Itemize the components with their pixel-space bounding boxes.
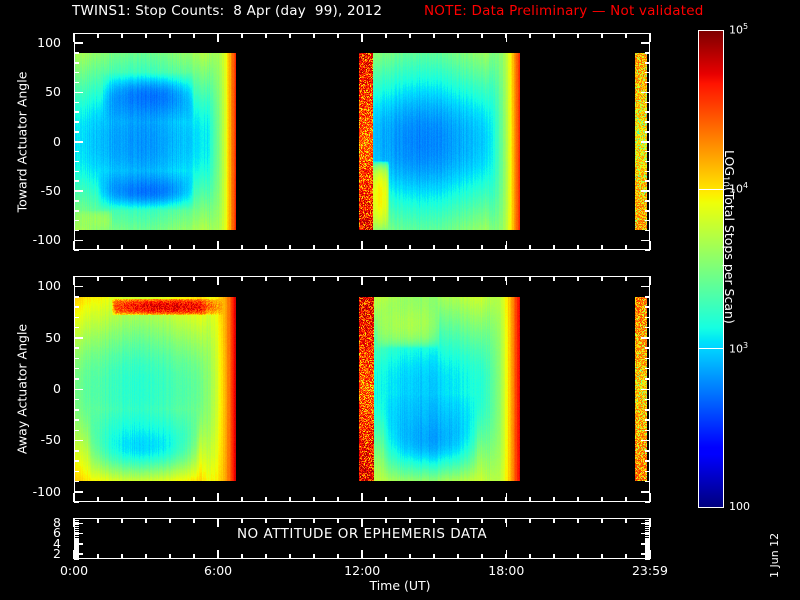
toward-x-minor-tick: [577, 33, 579, 38]
attitude-y-minor-tick: [645, 540, 650, 542]
toward-x-minor-tick: [241, 33, 243, 38]
attitude-y-minor-tick: [74, 550, 79, 552]
away-y-major-tick: [74, 337, 83, 339]
attitude-x-minor-tick: [625, 554, 627, 559]
away-x-minor-tick: [313, 497, 315, 502]
away-y-minor-tick: [74, 276, 79, 278]
attitude-x-minor-tick: [313, 518, 315, 523]
toward-y-major-tick: [641, 190, 650, 192]
attitude-x-minor-tick: [601, 518, 603, 523]
away-x-minor-tick: [97, 497, 99, 502]
attitude-x-minor-tick: [313, 554, 315, 559]
attitude-x-minor-tick: [145, 518, 147, 523]
away-x-minor-tick: [601, 497, 603, 502]
away-x-minor-tick: [457, 497, 459, 502]
attitude-x-minor-tick: [241, 518, 243, 523]
toward-y-minor-tick: [645, 200, 650, 202]
toward-x-minor-tick: [169, 245, 171, 250]
away-x-major-tick: [506, 493, 508, 502]
away-x-minor-tick: [121, 497, 123, 502]
plot-page: TWINS1: Stop Counts: 8 Apr (day 99), 201…: [0, 0, 800, 600]
toward-y-minor-tick: [645, 220, 650, 222]
toward-x-minor-tick: [97, 33, 99, 38]
away-x-minor-tick: [577, 497, 579, 502]
away-x-minor-tick: [265, 497, 267, 502]
colorbar-tick: [698, 348, 724, 350]
toward-y-minor-tick: [74, 200, 79, 202]
away-x-minor-tick: [385, 276, 387, 281]
toward-x-major-tick: [217, 241, 219, 250]
away-y-minor-tick: [645, 296, 650, 298]
away-x-minor-tick: [409, 497, 411, 502]
toward-y-minor-tick: [74, 230, 79, 232]
toward-y-minor-tick: [74, 72, 79, 74]
away-x-minor-tick: [337, 497, 339, 502]
attitude-y-minor-tick: [74, 536, 79, 538]
away-y-minor-tick: [74, 409, 79, 411]
away-y-minor-tick: [645, 378, 650, 380]
toward-y-minor-tick: [645, 72, 650, 74]
away-x-minor-tick: [433, 276, 435, 281]
away-y-minor-tick: [645, 368, 650, 370]
away-y-minor-tick: [645, 460, 650, 462]
toward-y-major-tick: [74, 141, 83, 143]
attitude-y-tick-label: 2: [0, 546, 61, 561]
toward-y-tick-label: -100: [0, 232, 61, 247]
away-x-major-tick: [73, 493, 75, 502]
attitude-x-major-tick: [506, 550, 508, 559]
toward-x-minor-tick: [337, 33, 339, 38]
away-x-minor-tick: [193, 276, 195, 281]
attitude-y-minor-tick: [74, 540, 79, 542]
toward-y-major-tick: [74, 42, 83, 44]
away-y-minor-tick: [74, 471, 79, 473]
colorbar-tick: [698, 189, 724, 191]
away-y-tick-label: -50: [0, 432, 61, 447]
toward-x-major-tick: [361, 33, 363, 42]
toward-y-minor-tick: [645, 62, 650, 64]
away-x-minor-tick: [481, 276, 483, 281]
attitude-y-minor-tick: [645, 528, 650, 530]
away-x-major-tick: [361, 493, 363, 502]
attitude-x-minor-tick: [529, 518, 531, 523]
attitude-x-minor-tick: [265, 518, 267, 523]
attitude-y-major-tick: [74, 523, 83, 525]
attitude-x-minor-tick: [121, 554, 123, 559]
toward-x-minor-tick: [265, 245, 267, 250]
away-y-tick-label: -100: [0, 484, 61, 499]
toward-y-minor-tick: [645, 180, 650, 182]
attitude-x-minor-tick: [457, 554, 459, 559]
toward-y-minor-tick: [74, 220, 79, 222]
toward-x-minor-tick: [385, 33, 387, 38]
away-y-minor-tick: [74, 358, 79, 360]
attitude-y-minor-tick: [74, 528, 79, 530]
away-x-minor-tick: [169, 497, 171, 502]
toward-x-minor-tick: [601, 33, 603, 38]
attitude-y-minor-tick: [74, 530, 79, 532]
toward-x-major-tick: [73, 241, 75, 250]
colorbar: [698, 30, 724, 508]
toward-y-minor-tick: [645, 131, 650, 133]
toward-y-minor-tick: [74, 33, 79, 35]
toward-x-major-tick: [361, 241, 363, 250]
toward-x-minor-tick: [289, 245, 291, 250]
away-x-minor-tick: [313, 276, 315, 281]
away-y-tick-label: 50: [0, 330, 61, 345]
away-x-minor-tick: [625, 497, 627, 502]
away-y-minor-tick: [645, 450, 650, 452]
away-x-minor-tick: [625, 276, 627, 281]
x-tick-label: 18:00: [466, 563, 546, 578]
attitude-y-major-tick: [74, 533, 83, 535]
away-y-minor-tick: [74, 317, 79, 319]
colorbar-gradient: [699, 31, 723, 507]
away-y-minor-tick: [645, 430, 650, 432]
attitude-x-minor-tick: [481, 554, 483, 559]
toward-y-minor-tick: [74, 82, 79, 84]
toward-x-major-tick: [506, 241, 508, 250]
attitude-y-minor-tick: [74, 518, 79, 520]
attitude-x-minor-tick: [337, 554, 339, 559]
toward-x-minor-tick: [625, 245, 627, 250]
attitude-y-minor-tick: [74, 538, 79, 540]
attitude-x-minor-tick: [169, 518, 171, 523]
toward-x-minor-tick: [313, 33, 315, 38]
attitude-x-minor-tick: [577, 518, 579, 523]
toward-y-major-tick: [74, 240, 83, 242]
away-x-minor-tick: [433, 497, 435, 502]
away-y-minor-tick: [645, 317, 650, 319]
away-x-minor-tick: [553, 276, 555, 281]
attitude-x-major-tick: [506, 518, 508, 527]
toward-x-minor-tick: [529, 245, 531, 250]
no-attitude-message: NO ATTITUDE OR EPHEMERIS DATA: [74, 526, 650, 542]
colorbar-tick-label: 105: [729, 22, 748, 37]
attitude-y-minor-tick: [645, 538, 650, 540]
attitude-x-major-tick: [73, 550, 75, 559]
away-x-minor-tick: [169, 276, 171, 281]
away-y-minor-tick: [74, 502, 79, 504]
away-y-minor-tick: [74, 378, 79, 380]
toward-x-minor-tick: [97, 245, 99, 250]
away-y-major-tick: [74, 389, 83, 391]
x-tick-label: 12:00: [322, 563, 402, 578]
away-x-minor-tick: [97, 276, 99, 281]
toward-x-minor-tick: [577, 245, 579, 250]
toward-y-minor-tick: [645, 210, 650, 212]
attitude-x-minor-tick: [241, 554, 243, 559]
toward-x-minor-tick: [481, 245, 483, 250]
away-x-minor-tick: [553, 497, 555, 502]
away-y-minor-tick: [74, 399, 79, 401]
attitude-x-minor-tick: [625, 518, 627, 523]
toward-y-minor-tick: [74, 52, 79, 54]
away-y-minor-tick: [645, 358, 650, 360]
toward-y-minor-tick: [645, 52, 650, 54]
toward-y-minor-tick: [74, 131, 79, 133]
away-y-major-tick: [74, 491, 83, 493]
away-x-minor-tick: [577, 276, 579, 281]
colorbar-tick-label: 103: [729, 341, 748, 356]
toward-x-major-tick: [649, 241, 651, 250]
attitude-x-minor-tick: [553, 554, 555, 559]
x-tick-label: 6:00: [178, 563, 258, 578]
attitude-x-minor-tick: [265, 554, 267, 559]
attitude-x-minor-tick: [121, 518, 123, 523]
away-y-minor-tick: [74, 327, 79, 329]
toward-x-major-tick: [649, 33, 651, 42]
away-x-minor-tick: [145, 497, 147, 502]
away-x-minor-tick: [529, 497, 531, 502]
away-y-minor-tick: [645, 419, 650, 421]
toward-x-major-tick: [506, 33, 508, 42]
attitude-x-minor-tick: [145, 554, 147, 559]
toward-x-major-tick: [73, 33, 75, 42]
away-y-minor-tick: [74, 460, 79, 462]
toward-y-minor-tick: [74, 102, 79, 104]
away-y-minor-tick: [645, 409, 650, 411]
panel-away-frame: [74, 276, 650, 502]
toward-y-minor-tick: [645, 230, 650, 232]
toward-y-minor-tick: [74, 62, 79, 64]
away-y-minor-tick: [645, 327, 650, 329]
toward-y-tick-label: -50: [0, 183, 61, 198]
attitude-x-major-tick: [361, 518, 363, 527]
away-x-minor-tick: [193, 497, 195, 502]
away-y-minor-tick: [74, 306, 79, 308]
away-y-minor-tick: [645, 471, 650, 473]
attitude-x-major-tick: [649, 518, 651, 527]
away-y-major-tick: [641, 440, 650, 442]
attitude-x-minor-tick: [433, 554, 435, 559]
toward-x-minor-tick: [193, 245, 195, 250]
away-x-major-tick: [506, 276, 508, 285]
attitude-x-minor-tick: [97, 554, 99, 559]
away-y-major-tick: [641, 389, 650, 391]
attitude-x-minor-tick: [409, 554, 411, 559]
toward-x-minor-tick: [433, 245, 435, 250]
away-x-major-tick: [649, 276, 651, 285]
away-y-minor-tick: [645, 306, 650, 308]
away-x-minor-tick: [481, 497, 483, 502]
away-x-major-tick: [73, 276, 75, 285]
toward-y-minor-tick: [645, 151, 650, 153]
attitude-y-major-tick: [74, 543, 83, 545]
toward-x-minor-tick: [553, 33, 555, 38]
colorbar-tick-label: 100: [729, 500, 750, 513]
toward-x-minor-tick: [385, 245, 387, 250]
attitude-x-minor-tick: [193, 554, 195, 559]
away-x-minor-tick: [241, 497, 243, 502]
away-y-minor-tick: [74, 368, 79, 370]
attitude-x-minor-tick: [577, 554, 579, 559]
x-tick-label: 0:00: [34, 563, 114, 578]
attitude-y-minor-tick: [645, 546, 650, 548]
toward-y-major-tick: [641, 42, 650, 44]
attitude-x-minor-tick: [409, 518, 411, 523]
attitude-x-minor-tick: [481, 518, 483, 523]
attitude-x-minor-tick: [457, 518, 459, 523]
toward-y-tick-label: 50: [0, 84, 61, 99]
toward-y-major-tick: [74, 92, 83, 94]
toward-y-tick-label: 100: [0, 35, 61, 50]
toward-y-minor-tick: [74, 111, 79, 113]
toward-x-minor-tick: [481, 33, 483, 38]
away-x-minor-tick: [289, 497, 291, 502]
toward-x-minor-tick: [241, 245, 243, 250]
away-y-minor-tick: [74, 481, 79, 483]
toward-x-minor-tick: [145, 245, 147, 250]
toward-y-tick-label: 0: [0, 134, 61, 149]
away-y-major-tick: [641, 337, 650, 339]
attitude-x-minor-tick: [193, 518, 195, 523]
away-x-minor-tick: [337, 276, 339, 281]
attitude-y-minor-tick: [74, 548, 79, 550]
attitude-x-minor-tick: [553, 518, 555, 523]
toward-x-minor-tick: [121, 245, 123, 250]
toward-y-minor-tick: [74, 250, 79, 252]
attitude-y-major-tick: [74, 553, 83, 555]
toward-y-minor-tick: [645, 161, 650, 163]
toward-x-minor-tick: [601, 245, 603, 250]
attitude-y-minor-tick: [74, 526, 79, 528]
attitude-y-minor-tick: [74, 556, 79, 558]
attitude-x-minor-tick: [337, 518, 339, 523]
toward-x-minor-tick: [337, 245, 339, 250]
away-x-major-tick: [217, 276, 219, 285]
away-y-tick-label: 100: [0, 278, 61, 293]
away-y-major-tick: [74, 440, 83, 442]
away-x-minor-tick: [529, 276, 531, 281]
away-y-minor-tick: [74, 450, 79, 452]
toward-y-minor-tick: [74, 161, 79, 163]
toward-y-minor-tick: [74, 171, 79, 173]
toward-x-minor-tick: [553, 245, 555, 250]
preliminary-data-warning: NOTE: Data Preliminary — Not validated: [424, 3, 704, 19]
toward-x-minor-tick: [457, 33, 459, 38]
toward-y-minor-tick: [74, 151, 79, 153]
attitude-y-minor-tick: [645, 530, 650, 532]
toward-x-minor-tick: [289, 33, 291, 38]
away-y-minor-tick: [645, 347, 650, 349]
toward-y-major-tick: [641, 92, 650, 94]
attitude-x-major-tick: [73, 518, 75, 527]
attitude-x-minor-tick: [385, 554, 387, 559]
attitude-x-major-tick: [649, 550, 651, 559]
attitude-x-minor-tick: [97, 518, 99, 523]
toward-y-minor-tick: [645, 121, 650, 123]
away-x-minor-tick: [409, 276, 411, 281]
toward-y-minor-tick: [645, 82, 650, 84]
attitude-y-minor-tick: [74, 546, 79, 548]
away-y-major-tick: [641, 286, 650, 288]
toward-x-minor-tick: [409, 33, 411, 38]
colorbar-label: LOG10(Total Stops per Scan): [722, 150, 737, 324]
attitude-x-minor-tick: [433, 518, 435, 523]
toward-y-major-tick: [641, 141, 650, 143]
away-x-minor-tick: [457, 276, 459, 281]
x-tick-label: 23:59: [610, 563, 690, 578]
toward-x-minor-tick: [145, 33, 147, 38]
away-y-tick-label: 0: [0, 381, 61, 396]
page-title: TWINS1: Stop Counts: 8 Apr (day 99), 201…: [72, 3, 382, 19]
attitude-x-minor-tick: [289, 554, 291, 559]
toward-y-minor-tick: [645, 102, 650, 104]
attitude-y-major-tick: [641, 533, 650, 535]
toward-x-minor-tick: [457, 245, 459, 250]
away-x-major-tick: [217, 493, 219, 502]
toward-x-minor-tick: [193, 33, 195, 38]
toward-x-major-tick: [217, 33, 219, 42]
away-x-major-tick: [361, 276, 363, 285]
away-y-minor-tick: [74, 296, 79, 298]
away-x-minor-tick: [121, 276, 123, 281]
away-y-minor-tick: [74, 430, 79, 432]
toward-y-minor-tick: [645, 111, 650, 113]
panel-toward-frame: [74, 33, 650, 250]
attitude-x-minor-tick: [601, 554, 603, 559]
away-y-minor-tick: [74, 419, 79, 421]
toward-x-minor-tick: [529, 33, 531, 38]
attitude-x-minor-tick: [385, 518, 387, 523]
away-x-major-tick: [649, 493, 651, 502]
toward-x-minor-tick: [433, 33, 435, 38]
attitude-y-minor-tick: [645, 536, 650, 538]
attitude-x-minor-tick: [169, 554, 171, 559]
toward-x-minor-tick: [265, 33, 267, 38]
toward-x-minor-tick: [409, 245, 411, 250]
away-x-minor-tick: [241, 276, 243, 281]
toward-x-minor-tick: [625, 33, 627, 38]
toward-x-minor-tick: [169, 33, 171, 38]
attitude-y-minor-tick: [74, 520, 79, 522]
away-y-major-tick: [74, 286, 83, 288]
toward-y-major-tick: [74, 190, 83, 192]
away-y-minor-tick: [645, 399, 650, 401]
date-stamp: 1 Jun 12: [768, 533, 781, 578]
attitude-x-major-tick: [217, 518, 219, 527]
away-x-minor-tick: [145, 276, 147, 281]
attitude-y-major-tick: [641, 543, 650, 545]
away-y-minor-tick: [645, 481, 650, 483]
away-x-minor-tick: [289, 276, 291, 281]
attitude-x-major-tick: [361, 550, 363, 559]
away-y-minor-tick: [74, 347, 79, 349]
toward-y-minor-tick: [645, 171, 650, 173]
attitude-x-minor-tick: [289, 518, 291, 523]
toward-x-minor-tick: [313, 245, 315, 250]
toward-x-minor-tick: [121, 33, 123, 38]
attitude-x-major-tick: [217, 550, 219, 559]
x-axis-label: Time (UT): [0, 578, 800, 593]
attitude-x-minor-tick: [529, 554, 531, 559]
toward-y-minor-tick: [74, 180, 79, 182]
away-x-minor-tick: [265, 276, 267, 281]
attitude-y-minor-tick: [74, 559, 79, 561]
toward-y-minor-tick: [74, 121, 79, 123]
toward-y-minor-tick: [74, 210, 79, 212]
away-x-minor-tick: [601, 276, 603, 281]
away-x-minor-tick: [385, 497, 387, 502]
